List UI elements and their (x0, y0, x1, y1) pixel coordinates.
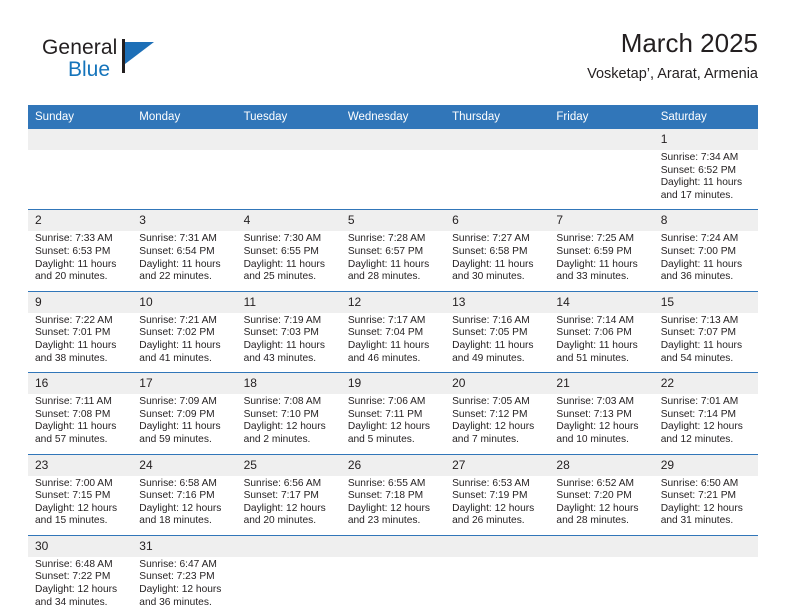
weekday-header-friday: Friday (549, 105, 653, 129)
daylight-text-line2: and 22 minutes. (139, 271, 230, 284)
sunrise-text (556, 152, 647, 165)
day-info: Sunrise: 7:14 AMSunset: 7:06 PMDaylight:… (549, 313, 653, 372)
day-cell[interactable]: 5Sunrise: 7:28 AMSunset: 6:57 PMDaylight… (341, 210, 445, 291)
sunset-text: Sunset: 7:21 PM (661, 490, 752, 503)
day-cell[interactable]: 10Sunrise: 7:21 AMSunset: 7:02 PMDayligh… (132, 291, 236, 372)
day-info: Sunrise: 6:50 AMSunset: 7:21 PMDaylight:… (654, 476, 758, 535)
daylight-text-line1: Daylight: 11 hours (452, 259, 543, 272)
day-number: 6 (445, 210, 549, 231)
day-info: Sunrise: 7:21 AMSunset: 7:02 PMDaylight:… (132, 313, 236, 372)
sunset-text (244, 571, 335, 584)
day-cell-empty (341, 129, 445, 210)
daylight-text-line1: Daylight: 12 hours (139, 503, 230, 516)
calendar-week-row: 30Sunrise: 6:48 AMSunset: 7:22 PMDayligh… (28, 535, 758, 616)
day-info: Sunrise: 7:03 AMSunset: 7:13 PMDaylight:… (549, 394, 653, 453)
sunrise-text (139, 152, 230, 165)
daylight-text-line2: and 15 minutes. (35, 515, 126, 528)
day-number: 7 (549, 210, 653, 231)
daylight-text-line2 (556, 597, 647, 610)
daylight-text-line2: and 33 minutes. (556, 271, 647, 284)
daylight-text-line2 (348, 190, 439, 203)
sunset-text: Sunset: 7:23 PM (139, 571, 230, 584)
daylight-text-line1: Daylight: 11 hours (661, 340, 752, 353)
sunrise-text: Sunrise: 6:47 AM (139, 559, 230, 572)
day-cell-empty (132, 129, 236, 210)
sunset-text: Sunset: 7:13 PM (556, 409, 647, 422)
daylight-text-line2 (139, 190, 230, 203)
day-cell[interactable]: 15Sunrise: 7:13 AMSunset: 7:07 PMDayligh… (654, 291, 758, 372)
day-number: 24 (132, 455, 236, 476)
day-cell[interactable]: 1Sunrise: 7:34 AMSunset: 6:52 PMDaylight… (654, 129, 758, 210)
daylight-text-line2: and 49 minutes. (452, 353, 543, 366)
daylight-text-line1 (139, 177, 230, 190)
sunset-text: Sunset: 7:05 PM (452, 327, 543, 340)
logo-text-blue: Blue (68, 58, 110, 82)
day-cell[interactable]: 3Sunrise: 7:31 AMSunset: 6:54 PMDaylight… (132, 210, 236, 291)
sunrise-text: Sunrise: 7:31 AM (139, 233, 230, 246)
day-info (445, 557, 549, 616)
calendar-page: General Blue March 2025 Vosketap’, Arara… (0, 0, 792, 612)
day-number (341, 129, 445, 150)
sunrise-text: Sunrise: 6:58 AM (139, 478, 230, 491)
weekday-header-thursday: Thursday (445, 105, 549, 129)
day-number (549, 536, 653, 557)
sunset-text: Sunset: 7:22 PM (35, 571, 126, 584)
day-number: 2 (28, 210, 132, 231)
page-header: General Blue March 2025 Vosketap’, Arara… (28, 28, 758, 90)
day-info: Sunrise: 6:48 AMSunset: 7:22 PMDaylight:… (28, 557, 132, 616)
daylight-text-line1: Daylight: 12 hours (556, 421, 647, 434)
day-cell[interactable]: 14Sunrise: 7:14 AMSunset: 7:06 PMDayligh… (549, 291, 653, 372)
day-cell[interactable]: 25Sunrise: 6:56 AMSunset: 7:17 PMDayligh… (237, 454, 341, 535)
sunrise-text: Sunrise: 6:50 AM (661, 478, 752, 491)
sunset-text (452, 165, 543, 178)
sunset-text: Sunset: 7:16 PM (139, 490, 230, 503)
day-info (549, 557, 653, 616)
sunset-text: Sunset: 7:19 PM (452, 490, 543, 503)
weekday-header-sunday: Sunday (28, 105, 132, 129)
day-cell[interactable]: 13Sunrise: 7:16 AMSunset: 7:05 PMDayligh… (445, 291, 549, 372)
daylight-text-line1: Daylight: 11 hours (35, 421, 126, 434)
daylight-text-line2: and 57 minutes. (35, 434, 126, 447)
day-info: Sunrise: 7:16 AMSunset: 7:05 PMDaylight:… (445, 313, 549, 372)
day-info: Sunrise: 6:53 AMSunset: 7:19 PMDaylight:… (445, 476, 549, 535)
day-info: Sunrise: 6:52 AMSunset: 7:20 PMDaylight:… (549, 476, 653, 535)
sunset-text (556, 571, 647, 584)
daylight-text-line2: and 5 minutes. (348, 434, 439, 447)
day-cell[interactable]: 18Sunrise: 7:08 AMSunset: 7:10 PMDayligh… (237, 373, 341, 454)
day-number: 20 (445, 373, 549, 394)
day-number: 22 (654, 373, 758, 394)
day-info: Sunrise: 7:09 AMSunset: 7:09 PMDaylight:… (132, 394, 236, 453)
daylight-text-line1: Daylight: 12 hours (348, 421, 439, 434)
day-number (445, 129, 549, 150)
sunset-text: Sunset: 7:09 PM (139, 409, 230, 422)
day-info: Sunrise: 7:22 AMSunset: 7:01 PMDaylight:… (28, 313, 132, 372)
sunrise-text: Sunrise: 7:14 AM (556, 315, 647, 328)
day-info: Sunrise: 7:33 AMSunset: 6:53 PMDaylight:… (28, 231, 132, 290)
sunrise-text (348, 559, 439, 572)
sunrise-text: Sunrise: 7:34 AM (661, 152, 752, 165)
daylight-text-line1: Daylight: 11 hours (556, 340, 647, 353)
daylight-text-line2: and 2 minutes. (244, 434, 335, 447)
day-number (237, 536, 341, 557)
day-cell[interactable]: 12Sunrise: 7:17 AMSunset: 7:04 PMDayligh… (341, 291, 445, 372)
daylight-text-line1 (244, 177, 335, 190)
sunrise-text: Sunrise: 7:16 AM (452, 315, 543, 328)
daylight-text-line1: Daylight: 12 hours (244, 421, 335, 434)
day-number: 31 (132, 536, 236, 557)
daylight-text-line2 (452, 597, 543, 610)
day-number (237, 129, 341, 150)
sunset-text: Sunset: 6:55 PM (244, 246, 335, 259)
sunrise-text (244, 152, 335, 165)
day-cell[interactable]: 2Sunrise: 7:33 AMSunset: 6:53 PMDaylight… (28, 210, 132, 291)
calendar-week-row: 16Sunrise: 7:11 AMSunset: 7:08 PMDayligh… (28, 373, 758, 454)
daylight-text-line1: Daylight: 11 hours (348, 259, 439, 272)
daylight-text-line2: and 38 minutes. (35, 353, 126, 366)
sunset-text: Sunset: 7:11 PM (348, 409, 439, 422)
daylight-text-line1: Daylight: 11 hours (139, 259, 230, 272)
day-number: 15 (654, 292, 758, 313)
day-number: 26 (341, 455, 445, 476)
sunrise-text: Sunrise: 7:28 AM (348, 233, 439, 246)
daylight-text-line1: Daylight: 12 hours (35, 503, 126, 516)
day-number: 4 (237, 210, 341, 231)
daylight-text-line2: and 23 minutes. (348, 515, 439, 528)
sunset-text: Sunset: 6:53 PM (35, 246, 126, 259)
day-cell[interactable]: 19Sunrise: 7:06 AMSunset: 7:11 PMDayligh… (341, 373, 445, 454)
weekday-header-monday: Monday (132, 105, 236, 129)
sunrise-text: Sunrise: 6:48 AM (35, 559, 126, 572)
sunrise-text (348, 152, 439, 165)
sunset-text (139, 165, 230, 178)
sunset-text (452, 571, 543, 584)
day-cell-empty (28, 129, 132, 210)
calendar-week-row: 23Sunrise: 7:00 AMSunset: 7:15 PMDayligh… (28, 454, 758, 535)
day-info: Sunrise: 6:58 AMSunset: 7:16 PMDaylight:… (132, 476, 236, 535)
calendar-week-row: 1Sunrise: 7:34 AMSunset: 6:52 PMDaylight… (28, 129, 758, 210)
daylight-text-line1: Daylight: 11 hours (244, 340, 335, 353)
sunrise-text: Sunrise: 7:13 AM (661, 315, 752, 328)
day-cell-empty (654, 535, 758, 616)
day-number: 5 (341, 210, 445, 231)
day-info: Sunrise: 7:19 AMSunset: 7:03 PMDaylight:… (237, 313, 341, 372)
sunset-text (556, 165, 647, 178)
daylight-text-line2: and 28 minutes. (556, 515, 647, 528)
sunrise-text: Sunrise: 7:27 AM (452, 233, 543, 246)
day-cell-empty (237, 129, 341, 210)
sunrise-text: Sunrise: 7:22 AM (35, 315, 126, 328)
logo-text-general: General (42, 36, 117, 60)
day-cell[interactable]: 22Sunrise: 7:01 AMSunset: 7:14 PMDayligh… (654, 373, 758, 454)
sunset-text: Sunset: 7:00 PM (661, 246, 752, 259)
weekday-header-tuesday: Tuesday (237, 105, 341, 129)
daylight-text-line1: Daylight: 11 hours (139, 421, 230, 434)
sunrise-text (556, 559, 647, 572)
day-cell[interactable]: 23Sunrise: 7:00 AMSunset: 7:15 PMDayligh… (28, 454, 132, 535)
day-number: 30 (28, 536, 132, 557)
sunset-text: Sunset: 7:17 PM (244, 490, 335, 503)
day-number: 10 (132, 292, 236, 313)
daylight-text-line2: and 7 minutes. (452, 434, 543, 447)
daylight-text-line2: and 30 minutes. (452, 271, 543, 284)
sunset-text (35, 165, 126, 178)
sunset-text: Sunset: 6:58 PM (452, 246, 543, 259)
day-number: 8 (654, 210, 758, 231)
day-info: Sunrise: 7:05 AMSunset: 7:12 PMDaylight:… (445, 394, 549, 453)
day-info: Sunrise: 7:08 AMSunset: 7:10 PMDaylight:… (237, 394, 341, 453)
day-cell[interactable]: 20Sunrise: 7:05 AMSunset: 7:12 PMDayligh… (445, 373, 549, 454)
day-number: 17 (132, 373, 236, 394)
sunrise-text (244, 559, 335, 572)
sunrise-text (661, 559, 752, 572)
daylight-text-line2: and 20 minutes. (244, 515, 335, 528)
daylight-text-line2 (661, 597, 752, 610)
page-subtitle: Vosketap’, Ararat, Armenia (587, 63, 758, 85)
day-number: 16 (28, 373, 132, 394)
sunrise-text: Sunrise: 6:56 AM (244, 478, 335, 491)
daylight-text-line2 (452, 190, 543, 203)
daylight-text-line1: Daylight: 11 hours (661, 259, 752, 272)
daylight-text-line1: Daylight: 12 hours (35, 584, 126, 597)
title-block: March 2025 Vosketap’, Ararat, Armenia (587, 28, 758, 85)
daylight-text-line2: and 12 minutes. (661, 434, 752, 447)
daylight-text-line2: and 10 minutes. (556, 434, 647, 447)
sunrise-text: Sunrise: 7:06 AM (348, 396, 439, 409)
daylight-text-line2: and 28 minutes. (348, 271, 439, 284)
day-cell-empty (445, 129, 549, 210)
sunrise-text (452, 559, 543, 572)
day-cell-empty (445, 535, 549, 616)
day-number: 13 (445, 292, 549, 313)
day-number: 23 (28, 455, 132, 476)
day-info: Sunrise: 7:11 AMSunset: 7:08 PMDaylight:… (28, 394, 132, 453)
sunset-text: Sunset: 7:02 PM (139, 327, 230, 340)
daylight-text-line1: Daylight: 11 hours (661, 177, 752, 190)
daylight-text-line1: Daylight: 11 hours (348, 340, 439, 353)
daylight-text-line1: Daylight: 12 hours (348, 503, 439, 516)
daylight-text-line1 (348, 177, 439, 190)
day-info (445, 150, 549, 209)
calendar-header-row: Sunday Monday Tuesday Wednesday Thursday… (28, 105, 758, 129)
daylight-text-line1 (348, 584, 439, 597)
daylight-text-line1 (556, 584, 647, 597)
day-cell[interactable]: 28Sunrise: 6:52 AMSunset: 7:20 PMDayligh… (549, 454, 653, 535)
sunset-text (244, 165, 335, 178)
day-cell-empty (237, 535, 341, 616)
daylight-text-line2: and 18 minutes. (139, 515, 230, 528)
daylight-text-line2 (244, 597, 335, 610)
day-cell[interactable]: 21Sunrise: 7:03 AMSunset: 7:13 PMDayligh… (549, 373, 653, 454)
day-info: Sunrise: 7:13 AMSunset: 7:07 PMDaylight:… (654, 313, 758, 372)
day-number: 12 (341, 292, 445, 313)
day-cell[interactable]: 16Sunrise: 7:11 AMSunset: 7:08 PMDayligh… (28, 373, 132, 454)
sunrise-text: Sunrise: 7:33 AM (35, 233, 126, 246)
daylight-text-line1 (452, 177, 543, 190)
day-info: Sunrise: 7:25 AMSunset: 6:59 PMDaylight:… (549, 231, 653, 290)
daylight-text-line1: Daylight: 12 hours (661, 421, 752, 434)
day-info (341, 557, 445, 616)
day-cell-empty (549, 129, 653, 210)
daylight-text-line1: Daylight: 11 hours (452, 340, 543, 353)
day-info (28, 150, 132, 209)
daylight-text-line2: and 36 minutes. (139, 597, 230, 610)
sunrise-text: Sunrise: 7:24 AM (661, 233, 752, 246)
day-cell[interactable]: 31Sunrise: 6:47 AMSunset: 7:23 PMDayligh… (132, 535, 236, 616)
day-cell[interactable]: 8Sunrise: 7:24 AMSunset: 7:00 PMDaylight… (654, 210, 758, 291)
day-cell-empty (549, 535, 653, 616)
sunset-text: Sunset: 7:12 PM (452, 409, 543, 422)
sunrise-text: Sunrise: 7:03 AM (556, 396, 647, 409)
day-cell[interactable]: 11Sunrise: 7:19 AMSunset: 7:03 PMDayligh… (237, 291, 341, 372)
sunrise-text: Sunrise: 7:30 AM (244, 233, 335, 246)
day-cell[interactable]: 29Sunrise: 6:50 AMSunset: 7:21 PMDayligh… (654, 454, 758, 535)
daylight-text-line2: and 43 minutes. (244, 353, 335, 366)
general-blue-logo[interactable]: General Blue (42, 36, 192, 90)
daylight-text-line2: and 54 minutes. (661, 353, 752, 366)
daylight-text-line1: Daylight: 12 hours (452, 503, 543, 516)
day-info: Sunrise: 7:00 AMSunset: 7:15 PMDaylight:… (28, 476, 132, 535)
daylight-text-line2 (244, 190, 335, 203)
day-number: 9 (28, 292, 132, 313)
weekday-header-saturday: Saturday (654, 105, 758, 129)
day-number: 19 (341, 373, 445, 394)
daylight-text-line1: Daylight: 12 hours (452, 421, 543, 434)
sunrise-text: Sunrise: 7:09 AM (139, 396, 230, 409)
day-number (28, 129, 132, 150)
sunrise-text: Sunrise: 7:17 AM (348, 315, 439, 328)
day-info: Sunrise: 7:30 AMSunset: 6:55 PMDaylight:… (237, 231, 341, 290)
daylight-text-line1 (244, 584, 335, 597)
sunrise-text: Sunrise: 7:00 AM (35, 478, 126, 491)
sunset-text: Sunset: 6:52 PM (661, 165, 752, 178)
daylight-text-line1: Daylight: 11 hours (244, 259, 335, 272)
daylight-text-line1: Daylight: 11 hours (556, 259, 647, 272)
day-info: Sunrise: 6:47 AMSunset: 7:23 PMDaylight:… (132, 557, 236, 616)
sunrise-text: Sunrise: 7:25 AM (556, 233, 647, 246)
daylight-text-line2: and 41 minutes. (139, 353, 230, 366)
daylight-text-line2: and 51 minutes. (556, 353, 647, 366)
calendar-body: 1Sunrise: 7:34 AMSunset: 6:52 PMDaylight… (28, 129, 758, 616)
day-info: Sunrise: 7:06 AMSunset: 7:11 PMDaylight:… (341, 394, 445, 453)
sunset-text: Sunset: 6:57 PM (348, 246, 439, 259)
day-number (549, 129, 653, 150)
sunset-text (348, 571, 439, 584)
daylight-text-line1 (452, 584, 543, 597)
sunrise-text: Sunrise: 7:01 AM (661, 396, 752, 409)
sunset-text: Sunset: 7:14 PM (661, 409, 752, 422)
weekday-header-wednesday: Wednesday (341, 105, 445, 129)
sunset-text: Sunset: 7:20 PM (556, 490, 647, 503)
sunset-text: Sunset: 7:18 PM (348, 490, 439, 503)
daylight-text-line1 (556, 177, 647, 190)
daylight-text-line2: and 59 minutes. (139, 434, 230, 447)
daylight-text-line1: Daylight: 12 hours (139, 584, 230, 597)
day-number: 3 (132, 210, 236, 231)
calendar-week-row: 2Sunrise: 7:33 AMSunset: 6:53 PMDaylight… (28, 210, 758, 291)
daylight-text-line2: and 20 minutes. (35, 271, 126, 284)
sunrise-text (35, 152, 126, 165)
day-cell[interactable]: 27Sunrise: 6:53 AMSunset: 7:19 PMDayligh… (445, 454, 549, 535)
daylight-text-line1 (35, 177, 126, 190)
day-cell[interactable]: 9Sunrise: 7:22 AMSunset: 7:01 PMDaylight… (28, 291, 132, 372)
day-number: 1 (654, 129, 758, 150)
day-number: 14 (549, 292, 653, 313)
day-info: Sunrise: 7:27 AMSunset: 6:58 PMDaylight:… (445, 231, 549, 290)
day-cell[interactable]: 30Sunrise: 6:48 AMSunset: 7:22 PMDayligh… (28, 535, 132, 616)
sunset-text (348, 165, 439, 178)
day-info: Sunrise: 7:24 AMSunset: 7:00 PMDaylight:… (654, 231, 758, 290)
day-cell[interactable]: 4Sunrise: 7:30 AMSunset: 6:55 PMDaylight… (237, 210, 341, 291)
day-info (237, 557, 341, 616)
day-info (654, 557, 758, 616)
daylight-text-line1 (661, 584, 752, 597)
sunset-text: Sunset: 7:01 PM (35, 327, 126, 340)
daylight-text-line1: Daylight: 12 hours (556, 503, 647, 516)
flag-triangle-icon (125, 42, 154, 64)
day-cell[interactable]: 7Sunrise: 7:25 AMSunset: 6:59 PMDaylight… (549, 210, 653, 291)
sunset-text: Sunset: 6:59 PM (556, 246, 647, 259)
day-cell-empty (341, 535, 445, 616)
sunrise-text: Sunrise: 6:53 AM (452, 478, 543, 491)
sunrise-text: Sunrise: 7:21 AM (139, 315, 230, 328)
calendar-week-row: 9Sunrise: 7:22 AMSunset: 7:01 PMDaylight… (28, 291, 758, 372)
day-number: 27 (445, 455, 549, 476)
sunrise-text: Sunrise: 7:11 AM (35, 396, 126, 409)
day-cell[interactable]: 24Sunrise: 6:58 AMSunset: 7:16 PMDayligh… (132, 454, 236, 535)
sunset-text: Sunset: 7:07 PM (661, 327, 752, 340)
daylight-text-line1: Daylight: 11 hours (35, 259, 126, 272)
day-info: Sunrise: 7:17 AMSunset: 7:04 PMDaylight:… (341, 313, 445, 372)
sunset-text: Sunset: 7:04 PM (348, 327, 439, 340)
sunset-text: Sunset: 7:03 PM (244, 327, 335, 340)
day-info (549, 150, 653, 209)
daylight-text-line2: and 36 minutes. (661, 271, 752, 284)
day-number: 29 (654, 455, 758, 476)
day-info (341, 150, 445, 209)
daylight-text-line2 (348, 597, 439, 610)
sunset-text: Sunset: 7:10 PM (244, 409, 335, 422)
sunset-text: Sunset: 7:06 PM (556, 327, 647, 340)
sunrise-text: Sunrise: 7:08 AM (244, 396, 335, 409)
daylight-text-line2: and 26 minutes. (452, 515, 543, 528)
sunset-text: Sunset: 7:08 PM (35, 409, 126, 422)
day-cell[interactable]: 6Sunrise: 7:27 AMSunset: 6:58 PMDaylight… (445, 210, 549, 291)
sunrise-text: Sunrise: 6:55 AM (348, 478, 439, 491)
daylight-text-line1: Daylight: 12 hours (661, 503, 752, 516)
day-info: Sunrise: 7:31 AMSunset: 6:54 PMDaylight:… (132, 231, 236, 290)
daylight-text-line2: and 46 minutes. (348, 353, 439, 366)
daylight-text-line2 (556, 190, 647, 203)
day-info: Sunrise: 7:01 AMSunset: 7:14 PMDaylight:… (654, 394, 758, 453)
day-info: Sunrise: 7:28 AMSunset: 6:57 PMDaylight:… (341, 231, 445, 290)
sunset-text (661, 571, 752, 584)
sunrise-text: Sunrise: 6:52 AM (556, 478, 647, 491)
day-info: Sunrise: 6:56 AMSunset: 7:17 PMDaylight:… (237, 476, 341, 535)
day-info: Sunrise: 7:34 AMSunset: 6:52 PMDaylight:… (654, 150, 758, 209)
day-number: 11 (237, 292, 341, 313)
daylight-text-line1: Daylight: 11 hours (35, 340, 126, 353)
day-cell[interactable]: 17Sunrise: 7:09 AMSunset: 7:09 PMDayligh… (132, 373, 236, 454)
day-number (654, 536, 758, 557)
daylight-text-line2: and 31 minutes. (661, 515, 752, 528)
day-number (445, 536, 549, 557)
daylight-text-line1: Daylight: 12 hours (244, 503, 335, 516)
day-number (132, 129, 236, 150)
calendar-table: Sunday Monday Tuesday Wednesday Thursday… (28, 105, 758, 616)
day-cell[interactable]: 26Sunrise: 6:55 AMSunset: 7:18 PMDayligh… (341, 454, 445, 535)
